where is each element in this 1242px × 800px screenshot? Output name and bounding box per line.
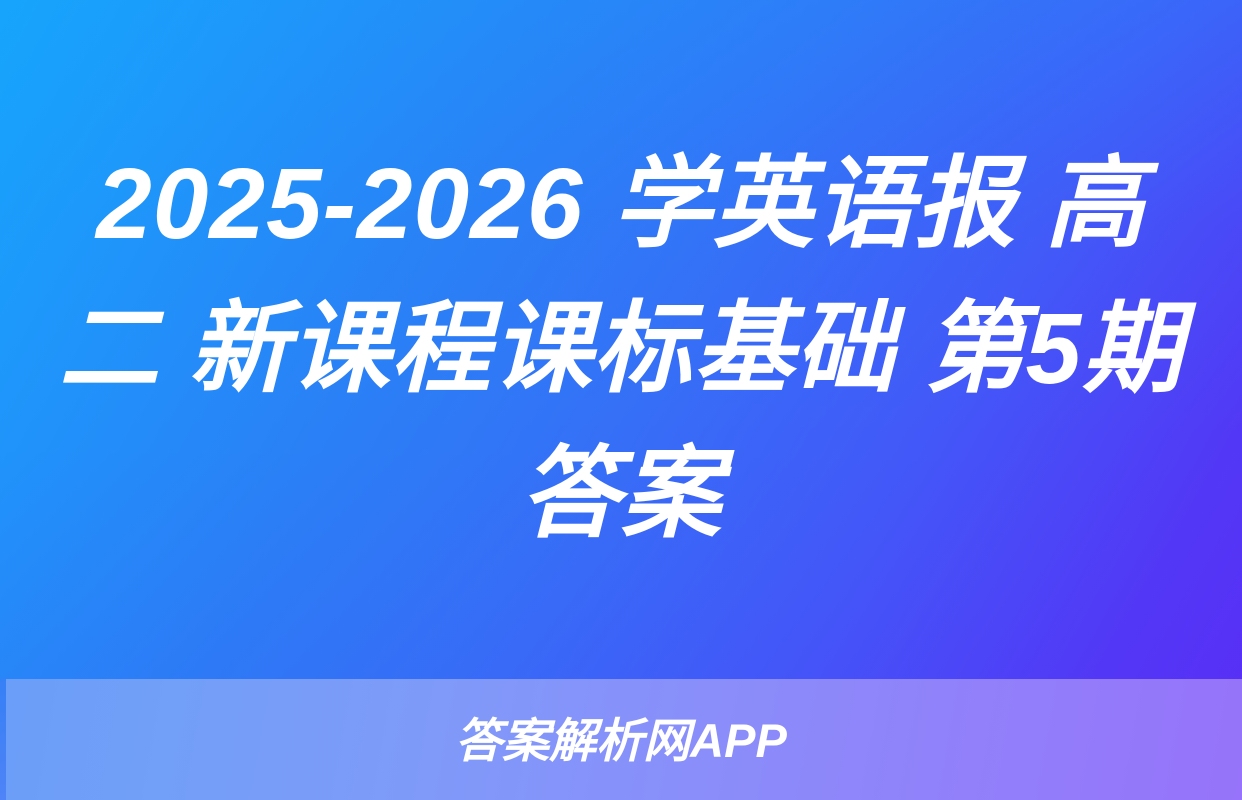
poster-canvas: 2025-2026 学英语报 高二 新课程课标基础 第5期答案 答案解析网APP — [0, 0, 1242, 800]
footer-brand-band: 答案解析网APP — [0, 679, 1242, 800]
page-title: 2025-2026 学英语报 高二 新课程课标基础 第5期答案 — [56, 132, 1186, 567]
brand-watermark: 答案解析网APP — [455, 717, 787, 764]
poster-main-area: 2025-2026 学英语报 高二 新课程课标基础 第5期答案 — [0, 0, 1242, 679]
